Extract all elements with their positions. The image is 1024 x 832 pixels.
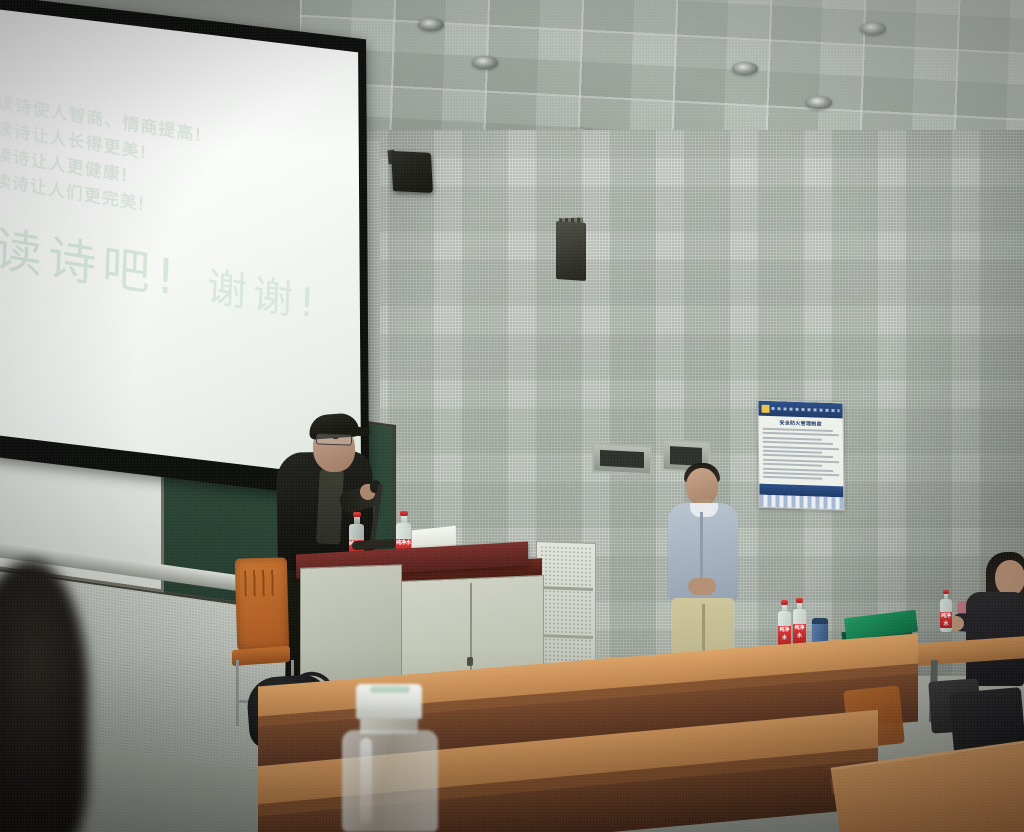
poster-text-line [763, 454, 833, 458]
standing-attendee-hands [688, 578, 716, 595]
vent-slot [600, 450, 644, 468]
wall-mounted-speaker-icon [391, 151, 433, 193]
wooden-chair-back [235, 557, 289, 650]
bottle-label-text: 纯净水 [793, 624, 806, 640]
poster-text-line [763, 467, 833, 471]
poster-text-line [763, 450, 822, 454]
thermos-lid [812, 618, 828, 624]
speaker-inner-shirt [316, 469, 344, 544]
poster-text-line [763, 463, 822, 467]
bottle-label-text: 纯净水 [940, 612, 952, 628]
poster-text-line [763, 437, 822, 441]
bottle-neck [354, 517, 360, 524]
slide-headline: 读诗吧! [0, 221, 182, 308]
cabinet-handle [467, 657, 473, 666]
wall-air-vent [592, 442, 652, 475]
seated-attendee-head [995, 560, 1024, 596]
bottle-neck [401, 516, 407, 523]
chair-back-slits [244, 570, 279, 597]
foreground-water-bottle [334, 684, 444, 832]
poster-bottom-grid [759, 495, 843, 510]
speaker-eyeglasses-icon [316, 433, 352, 445]
poster-emblem-icon [761, 404, 769, 412]
slide-bullet-list: 读诗使人智商、情商提高! 读诗让人长得更美! 读诗让人更健康! 读诗让人们更完美… [0, 90, 337, 248]
poster-text-line [763, 441, 833, 445]
bottle-label: 纯净水 [793, 624, 806, 644]
poster-body [759, 428, 844, 481]
poster-text-line [763, 428, 833, 432]
eyeglasses-bridge [333, 437, 338, 439]
lecture-hall-photo: 读诗使人智商、情商提高! 读诗让人长得更美! 读诗让人更健康! 读诗让人们更完美… [0, 0, 1024, 832]
bottle-body [342, 730, 438, 832]
poster-header [758, 401, 842, 419]
poster-text-line [763, 476, 822, 480]
poster-header-text [772, 407, 840, 412]
standing-attendee-collar [690, 503, 718, 517]
wall-light-fixture [556, 221, 586, 281]
wall-notice-board: 安全防火管理制度 [757, 400, 844, 511]
poster-title: 安全防火管理制度 [759, 419, 843, 429]
bottle-label-text: 纯净水 [396, 539, 411, 547]
projection-screen: 读诗使人智商、情商提高! 读诗让人长得更美! 读诗让人更健康! 读诗让人们更完美… [0, 8, 361, 479]
water-bottle-right-desk: 纯净水 [940, 590, 952, 632]
bottle-cap-top [370, 686, 410, 693]
bottle-label-text: 纯净水 [778, 626, 791, 642]
bottle-highlight [360, 738, 372, 824]
bottle-neck [360, 718, 418, 734]
slide-thanks: 谢谢! [206, 264, 322, 329]
bottle-label: 纯净水 [940, 612, 952, 628]
